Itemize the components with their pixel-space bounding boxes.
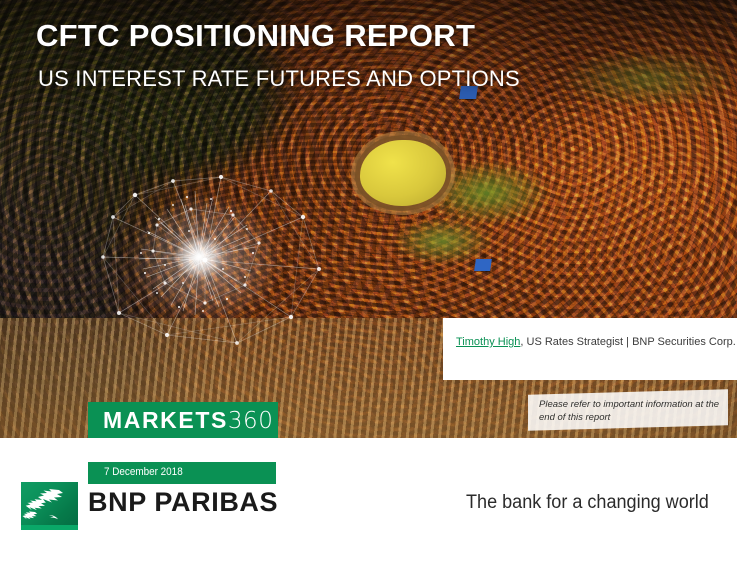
markets-word: MARKETS: [103, 407, 228, 433]
markets360-wordmark: MARKETS360: [103, 409, 273, 433]
publication-date: 7 December 2018: [104, 466, 183, 478]
author-panel: Timothy High, US Rates Strategist | BNP …: [443, 318, 737, 380]
markets360-logo-box: MARKETS360 Strategy & Economics: [88, 402, 278, 438]
page-subtitle: US INTEREST RATE FUTURES AND OPTIONS: [38, 66, 520, 92]
publication-date-box: 7 December 2018: [88, 462, 276, 484]
logo-accent-bar: [21, 525, 78, 530]
page-title: CFTC POSITIONING REPORT: [36, 18, 475, 54]
author-byline: Timothy High, US Rates Strategist | BNP …: [456, 336, 736, 348]
bnp-paribas-wordmark: BNP PARIBAS: [88, 487, 278, 518]
title-slide: CFTC POSITIONING REPORT US INTEREST RATE…: [0, 0, 737, 567]
author-name-link[interactable]: Timothy High: [456, 336, 520, 348]
bnp-flying-stars-icon: [21, 482, 78, 530]
author-role-text: , US Rates Strategist | BNP Securities C…: [520, 336, 735, 348]
hero-image: CFTC POSITIONING REPORT US INTEREST RATE…: [0, 0, 737, 438]
disclaimer-panel: Please refer to important information at…: [528, 389, 728, 431]
bank-tagline: The bank for a changing world: [466, 492, 709, 514]
disclaimer-text: Please refer to important information at…: [539, 398, 725, 424]
markets-number: 360: [228, 408, 273, 434]
